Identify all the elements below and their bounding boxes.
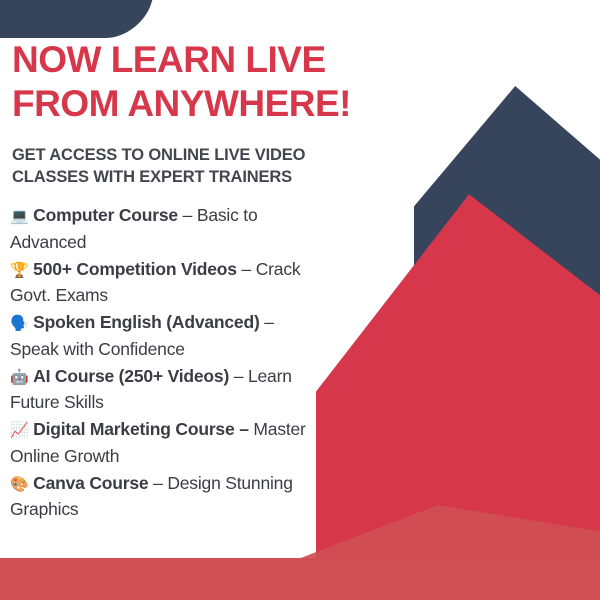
list-item: 🗣️ Spoken English (Advanced) – Speak wit… — [10, 309, 320, 363]
page-title: NOW LEARN LIVE FROM ANYWHERE! — [12, 38, 412, 125]
course-list: 💻 Computer Course – Basic to Advanced 🏆 … — [10, 202, 320, 523]
course-description: Speak with Confidence — [10, 339, 185, 359]
course-dash: – — [242, 259, 252, 279]
course-title: AI Course (250+ Videos) — [33, 366, 229, 386]
course-title: Digital Marketing Course — [33, 419, 234, 439]
laptop-computer-emoji-icon: 💻 — [10, 207, 28, 225]
course-title: Canva Course — [33, 473, 148, 493]
course-dash: – — [264, 312, 274, 332]
speaking-head-emoji-icon: 🗣️ — [10, 314, 28, 332]
artist-palette-emoji-icon: 🎨 — [10, 475, 28, 493]
headline-line-2: FROM ANYWHERE! — [12, 82, 412, 126]
subheading: GET ACCESS TO ONLINE LIVE VIDEO CLASSES … — [12, 145, 382, 189]
course-title: 500+ Competition Videos — [33, 259, 237, 279]
navy-corner-shape — [0, 0, 165, 38]
headline-line-1: NOW LEARN LIVE — [12, 38, 412, 82]
course-dash: – — [239, 419, 249, 439]
course-dash: – — [183, 205, 193, 225]
robot-emoji-icon: 🤖 — [10, 368, 28, 386]
list-item: 💻 Computer Course – Basic to Advanced — [10, 202, 320, 256]
list-item: 🤖 AI Course (250+ Videos) – Learn Future… — [10, 363, 320, 417]
trophy-emoji-icon: 🏆 — [10, 261, 28, 279]
chart-increasing-emoji-icon: 📈 — [10, 421, 28, 439]
promo-poster: NOW LEARN LIVE FROM ANYWHERE! GET ACCESS… — [0, 0, 600, 600]
course-dash: – — [234, 366, 244, 386]
course-title: Spoken English (Advanced) — [33, 312, 259, 332]
list-item: 🎨 Canva Course – Design Stunning Graphic… — [10, 470, 320, 524]
course-dash: – — [153, 473, 163, 493]
list-item: 📈 Digital Marketing Course – Master Onli… — [10, 416, 320, 470]
list-item: 🏆 500+ Competition Videos – Crack Govt. … — [10, 256, 320, 310]
course-title: Computer Course — [33, 205, 178, 225]
